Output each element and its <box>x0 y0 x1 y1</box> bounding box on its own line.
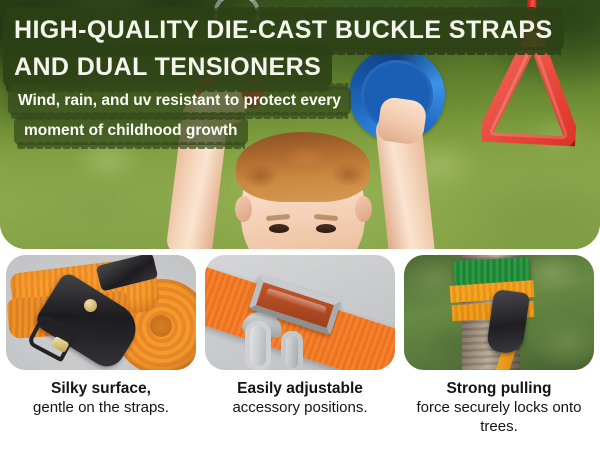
product-photo-tree-wrap <box>404 255 594 370</box>
carabiner-left <box>245 321 271 370</box>
product-photo-strap-roll <box>6 255 196 370</box>
carabiner-right <box>281 331 303 370</box>
card-caption: Silky surface, gentle on the straps. <box>6 379 196 417</box>
child-left-eye <box>269 224 289 233</box>
feature-cards-row: Silky surface, gentle on the straps. Eas… <box>0 255 600 450</box>
caption-rest: force securely locks onto trees. <box>404 398 594 436</box>
feature-card: Silky surface, gentle on the straps. <box>6 255 196 417</box>
caption-rest: accessory positions. <box>205 398 395 417</box>
headline-block: HIGH-QUALITY DIE-CAST BUCKLE STRAPS AND … <box>14 16 553 82</box>
headline-line-1: HIGH-QUALITY DIE-CAST BUCKLE STRAPS <box>14 16 553 45</box>
feature-card: Easily adjustable accessory positions. <box>205 255 395 417</box>
subheadline-line-2: moment of childhood growth <box>24 120 238 141</box>
caption-strong: Easily adjustable <box>205 379 395 398</box>
hero-banner: HIGH-QUALITY DIE-CAST BUCKLE STRAPS AND … <box>0 0 600 249</box>
card-caption: Strong pulling force securely locks onto… <box>404 379 594 436</box>
headline-line-2: AND DUAL TENSIONERS <box>14 53 321 82</box>
child-left-ear <box>235 196 252 222</box>
caption-strong: Silky surface, <box>6 379 196 398</box>
subheadline-line-1: Wind, rain, and uv resistant to protect … <box>18 90 341 111</box>
product-photo-slider-buckle <box>205 255 395 370</box>
child-right-eye <box>316 224 336 233</box>
caption-rest: gentle on the straps. <box>6 398 196 417</box>
card-caption: Easily adjustable accessory positions. <box>205 379 395 417</box>
child-right-hand <box>376 96 428 146</box>
feature-card: Strong pulling force securely locks onto… <box>404 255 594 436</box>
child-right-ear <box>355 196 372 222</box>
caption-strong: Strong pulling <box>404 379 594 398</box>
child-hair <box>236 132 370 202</box>
subheadline-block: Wind, rain, and uv resistant to protect … <box>18 90 341 141</box>
brass-pin <box>84 299 97 312</box>
